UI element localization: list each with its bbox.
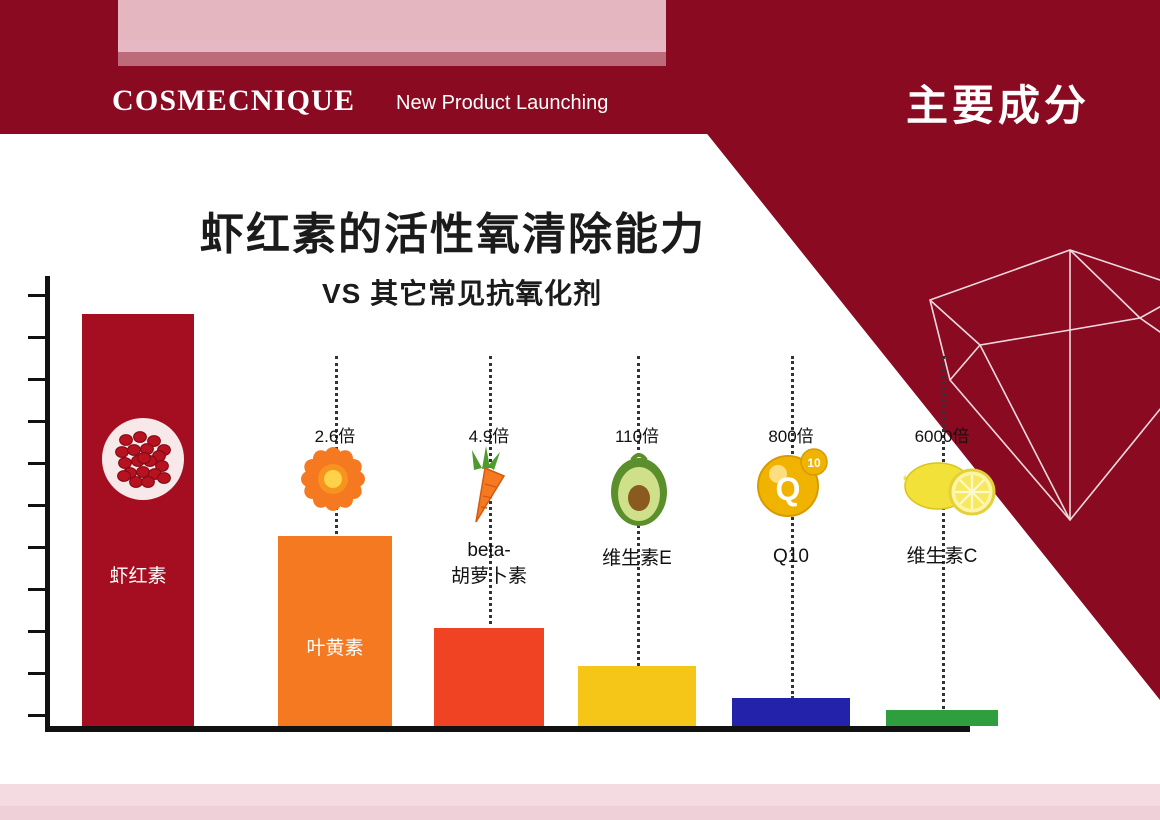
bar-Q10 <box>732 698 850 726</box>
connector-dotted-line <box>791 356 794 699</box>
svg-text:10: 10 <box>807 456 821 470</box>
bar-虾红素 <box>82 314 194 726</box>
bar-beta-胡萝卜素 <box>434 628 544 726</box>
multiplier-label: 110倍 <box>558 422 716 447</box>
section-title: 主要成分 <box>906 72 1090 133</box>
y-axis-tick <box>28 294 45 297</box>
y-axis-tick <box>28 336 45 339</box>
page-title: 虾红素的活性氧清除能力 <box>200 198 706 262</box>
y-axis-tick <box>28 672 45 675</box>
y-axis-tick <box>28 546 45 549</box>
marigold-flower-icon <box>298 444 368 519</box>
y-axis <box>45 276 50 731</box>
bar-维生素E <box>578 666 696 726</box>
y-axis-tick <box>28 420 45 423</box>
y-axis-tick <box>28 588 45 591</box>
y-axis-tick <box>28 630 45 633</box>
category-label-Q10: Q10 <box>702 544 880 570</box>
bar-维生素C <box>886 710 998 726</box>
lemon-icon <box>900 454 996 525</box>
y-axis-tick <box>28 714 45 717</box>
footer-strip-inner <box>0 806 1160 820</box>
bar-chart: 虾红素2.6倍 叶黄素4.9倍 beta-胡萝卜素110倍 <box>40 276 970 736</box>
slide: 主要成分 COSMECNIQUE New Product Launching 虾… <box>0 0 1160 820</box>
y-axis-tick <box>28 504 45 507</box>
q10-capsule-icon: Q 10 <box>748 442 832 527</box>
category-label-维生素E: 维生素E <box>548 546 726 572</box>
avocado-icon <box>602 446 676 535</box>
brand-logo: COSMECNIQUE <box>112 84 355 118</box>
y-axis-tick <box>28 378 45 381</box>
connector-dotted-line <box>942 356 945 709</box>
brand-subtitle: New Product Launching <box>396 92 608 115</box>
bar-叶黄素 <box>278 536 392 726</box>
category-label-叶黄素: 叶黄素 <box>248 636 422 662</box>
category-label-维生素C: 维生素C <box>856 544 1028 570</box>
footer-strip <box>0 784 1160 820</box>
header-accent-strip-2 <box>118 40 666 66</box>
y-axis-tick <box>28 462 45 465</box>
carrot-icon <box>452 444 526 535</box>
svg-text:Q: Q <box>776 471 801 507</box>
multiplier-label: 6000倍 <box>866 422 1018 447</box>
x-axis <box>45 726 970 732</box>
astaxanthin-cells-icon <box>100 416 186 507</box>
category-label-虾红素: 虾红素 <box>52 564 224 590</box>
